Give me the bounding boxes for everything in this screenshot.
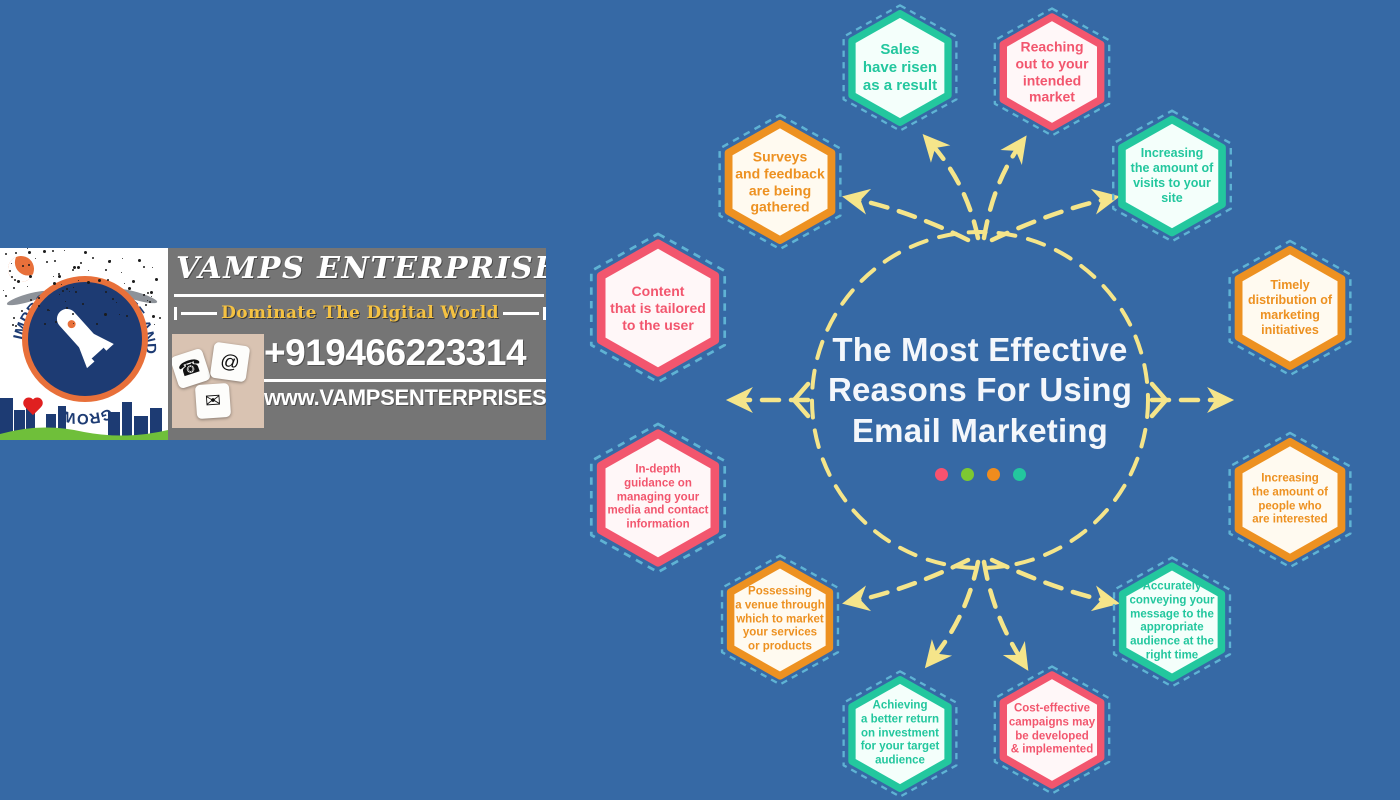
star-speck [87, 281, 90, 284]
star-speck [112, 298, 114, 300]
star-speck [69, 291, 70, 292]
star-speck [58, 275, 61, 278]
star-speck [121, 272, 122, 273]
star-speck [151, 296, 152, 297]
hex-label-11: Contentthat is tailoredto the user [594, 283, 722, 333]
star-speck [13, 317, 15, 319]
star-speck [22, 265, 24, 267]
star-speck [5, 253, 7, 255]
hex-label-9: Possessinga venue throughwhich to market… [727, 586, 833, 655]
star-speck [66, 288, 68, 290]
star-speck [38, 297, 40, 299]
company-tagline: Dominate The Digital World [221, 303, 499, 323]
star-speck [13, 287, 15, 289]
star-speck [96, 323, 98, 325]
star-speck [11, 276, 13, 278]
star-speck [54, 260, 56, 262]
star-speck [147, 292, 149, 294]
star-speck [64, 250, 65, 251]
company-name: VAMPS ENTERPRISES [176, 254, 542, 284]
divider [181, 312, 217, 315]
center-dot-1 [935, 468, 948, 481]
hex-label-8: Achievinga better returnon investmentfor… [849, 700, 951, 769]
star-speck [84, 251, 87, 254]
star-speck [108, 260, 111, 263]
hex-node-1[interactable]: Saleshave risenas a result [835, 0, 965, 139]
hex-node-3[interactable]: Increasingthe amount ofvisits to yoursit… [1104, 102, 1240, 250]
brand-info-panel: VAMPS ENTERPRISES Dominate The Digital W… [168, 248, 546, 440]
center-dot-3 [987, 468, 1000, 481]
hex-label-3: Increasingthe amount ofvisits to yoursit… [1118, 146, 1226, 206]
contact-dice-photo: ☎ @ ✉ [172, 334, 264, 428]
star-speck [150, 291, 153, 294]
hex-node-12[interactable]: Surveysand feedbackare beinggathered [710, 106, 850, 258]
star-speck [119, 314, 120, 315]
star-speck [58, 273, 60, 275]
star-speck [44, 323, 46, 325]
divider [264, 379, 546, 382]
star-speck [80, 262, 82, 264]
hex-node-2[interactable]: Reachingout to yourintendedmarket [986, 0, 1118, 144]
star-speck [124, 283, 125, 284]
star-speck [62, 290, 64, 292]
tick [543, 307, 546, 320]
center-title-line-2: Reasons For Using [795, 370, 1165, 410]
hex-label-5: Increasingthe amount ofpeople whoare int… [1234, 472, 1346, 527]
center-dot-2 [961, 468, 974, 481]
hex-node-5[interactable]: Increasingthe amount ofpeople whoare int… [1220, 424, 1360, 576]
star-speck [28, 251, 31, 254]
star-speck [77, 266, 80, 269]
star-speck [147, 300, 148, 301]
star-speck [21, 310, 23, 312]
tick [174, 307, 177, 320]
divider [503, 312, 539, 315]
star-speck [72, 313, 74, 315]
hex-node-4[interactable]: Timelydistribution ofmarketinginitiative… [1220, 232, 1360, 384]
logo-ring [22, 276, 148, 402]
hex-label-2: Reachingout to yourintendedmarket [1000, 38, 1104, 105]
hex-label-6: Accuratelyconveying yourmessage to theap… [1119, 581, 1225, 664]
star-speck [3, 290, 4, 291]
star-speck [73, 323, 74, 324]
star-speck [28, 264, 30, 266]
star-speck [78, 280, 79, 281]
star-speck [116, 302, 117, 303]
center-dot-4 [1013, 468, 1026, 481]
star-speck [152, 315, 155, 318]
phone-number[interactable]: +919466223314 [264, 334, 546, 372]
star-speck [11, 263, 12, 264]
company-logo: IMPROVE INNOVATE AND GROW [0, 248, 168, 440]
star-speck [59, 294, 60, 295]
star-speck [38, 305, 40, 307]
rocket-icon [48, 300, 123, 378]
star-speck [73, 287, 74, 288]
star-speck [154, 324, 155, 325]
star-speck [132, 280, 135, 283]
star-speck [35, 258, 36, 259]
star-speck [53, 276, 54, 277]
star-speck [5, 295, 7, 297]
center-title-line-3: Email Marketing [795, 411, 1165, 451]
star-speck [75, 291, 77, 293]
star-speck [52, 250, 54, 252]
star-speck [46, 261, 48, 263]
star-speck [92, 257, 94, 259]
phone-icon: ☎ [172, 348, 211, 390]
star-speck [105, 269, 107, 271]
star-speck [104, 313, 107, 316]
website-url[interactable]: www.VAMPSENTERPRISES.com [264, 385, 546, 411]
heart-icon [22, 398, 44, 418]
infographic-page: IMPROVE INNOVATE AND GROW [0, 0, 1400, 800]
star-speck [128, 287, 131, 290]
star-speck [14, 279, 16, 281]
hex-label-4: Timelydistribution ofmarketinginitiative… [1234, 278, 1346, 338]
at-sign-icon: @ [210, 342, 251, 383]
star-speck [12, 324, 14, 326]
star-speck [27, 286, 28, 287]
star-speck [65, 301, 66, 302]
hex-node-10[interactable]: In-depthguidance onmanaging yourmedia an… [580, 414, 736, 582]
star-speck [43, 250, 46, 253]
center-title-line-1: The Most Effective [795, 330, 1165, 370]
star-speck [145, 304, 147, 306]
hex-label-7: Cost-effectivecampaigns maybe developed&… [1000, 702, 1104, 757]
star-speck [105, 291, 107, 293]
hex-label-10: In-depthguidance onmanaging yourmedia an… [594, 464, 722, 533]
star-speck [61, 284, 62, 285]
tagline-row: Dominate The Digital World [174, 303, 546, 323]
star-speck [138, 259, 141, 262]
star-speck [72, 269, 74, 271]
hex-label-12: Surveysand feedbackare beinggathered [724, 148, 836, 215]
star-speck [143, 294, 145, 296]
star-speck [155, 278, 158, 281]
star-speck [152, 267, 153, 268]
star-speck [159, 317, 161, 319]
hex-node-7[interactable]: Cost-effectivecampaigns maybe developed&… [986, 658, 1118, 800]
star-speck [66, 307, 68, 309]
hex-label-1: Saleshave risenas a result [849, 41, 951, 95]
star-speck [126, 315, 128, 317]
star-speck [49, 310, 50, 311]
star-speck [122, 258, 123, 259]
star-speck [149, 301, 151, 303]
star-speck [17, 280, 20, 283]
star-speck [30, 299, 32, 301]
star-speck [53, 282, 56, 285]
star-speck [107, 279, 109, 281]
divider [174, 294, 544, 297]
brand-banner: IMPROVE INNOVATE AND GROW [0, 248, 546, 440]
star-speck [15, 325, 17, 327]
star-speck [9, 270, 11, 272]
star-speck [15, 252, 17, 254]
star-speck [27, 248, 28, 249]
envelope-icon: ✉ [195, 383, 231, 419]
star-speck [82, 303, 84, 305]
email-marketing-diagram: The Most EffectiveReasons For UsingEmail… [560, 0, 1400, 800]
star-speck [143, 266, 145, 268]
hex-node-8[interactable]: Achievinga better returnon investmentfor… [835, 663, 965, 800]
center-title: The Most EffectiveReasons For UsingEmail… [795, 330, 1165, 451]
star-speck [29, 275, 32, 278]
center-dots [795, 468, 1165, 481]
star-speck [88, 270, 89, 271]
hex-node-6[interactable]: Accuratelyconveying yourmessage to theap… [1105, 549, 1239, 695]
star-speck [55, 321, 57, 323]
star-speck [98, 279, 101, 282]
